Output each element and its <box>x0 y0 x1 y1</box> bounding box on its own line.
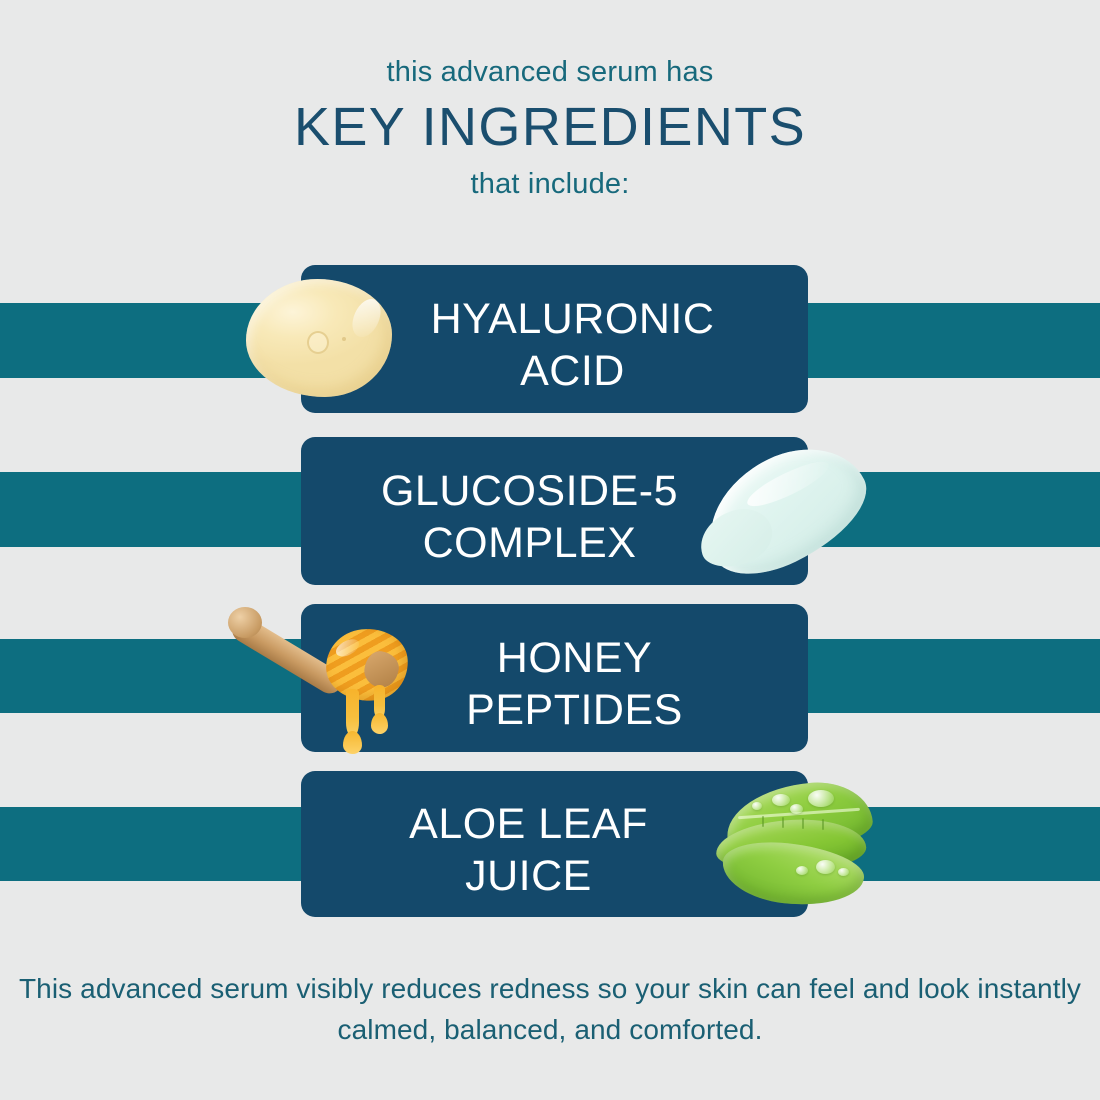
aloe-tick <box>762 816 764 827</box>
aloe-tick <box>822 819 824 830</box>
header-block: this advanced serum has KEY INGREDIENTS … <box>0 52 1100 204</box>
water-droplet <box>838 868 849 876</box>
page-title: KEY INGREDIENTS <box>0 94 1100 160</box>
header-kicker: this advanced serum has <box>0 52 1100 92</box>
honey-drip <box>346 689 359 737</box>
ingredient-infographic: this advanced serum has KEY INGREDIENTS … <box>0 0 1100 1100</box>
aloe-leaves-icon <box>712 782 880 908</box>
dipper-head <box>322 625 411 705</box>
water-droplet <box>752 802 762 810</box>
gel-swatch-icon <box>697 449 875 575</box>
gel-smear <box>687 425 884 592</box>
hyaluronic-acid-droplet-icon <box>246 279 392 397</box>
honey-dipper-icon <box>222 603 422 751</box>
footer-block: This advanced serum visibly reduces redn… <box>0 968 1100 1050</box>
water-droplet <box>790 804 803 814</box>
water-droplet <box>796 866 808 875</box>
dipper-wood-core <box>362 650 401 690</box>
aloe-tick <box>802 818 804 829</box>
dipper-gloss <box>334 636 362 660</box>
water-droplet <box>816 860 835 874</box>
water-droplet <box>772 794 790 806</box>
footer-description: This advanced serum visibly reduces redn… <box>0 968 1100 1050</box>
header-subkicker: that include: <box>0 164 1100 204</box>
aloe-tick <box>782 817 784 828</box>
dipper-knob <box>228 607 262 638</box>
water-droplet <box>808 790 834 807</box>
honey-drip <box>374 685 385 719</box>
